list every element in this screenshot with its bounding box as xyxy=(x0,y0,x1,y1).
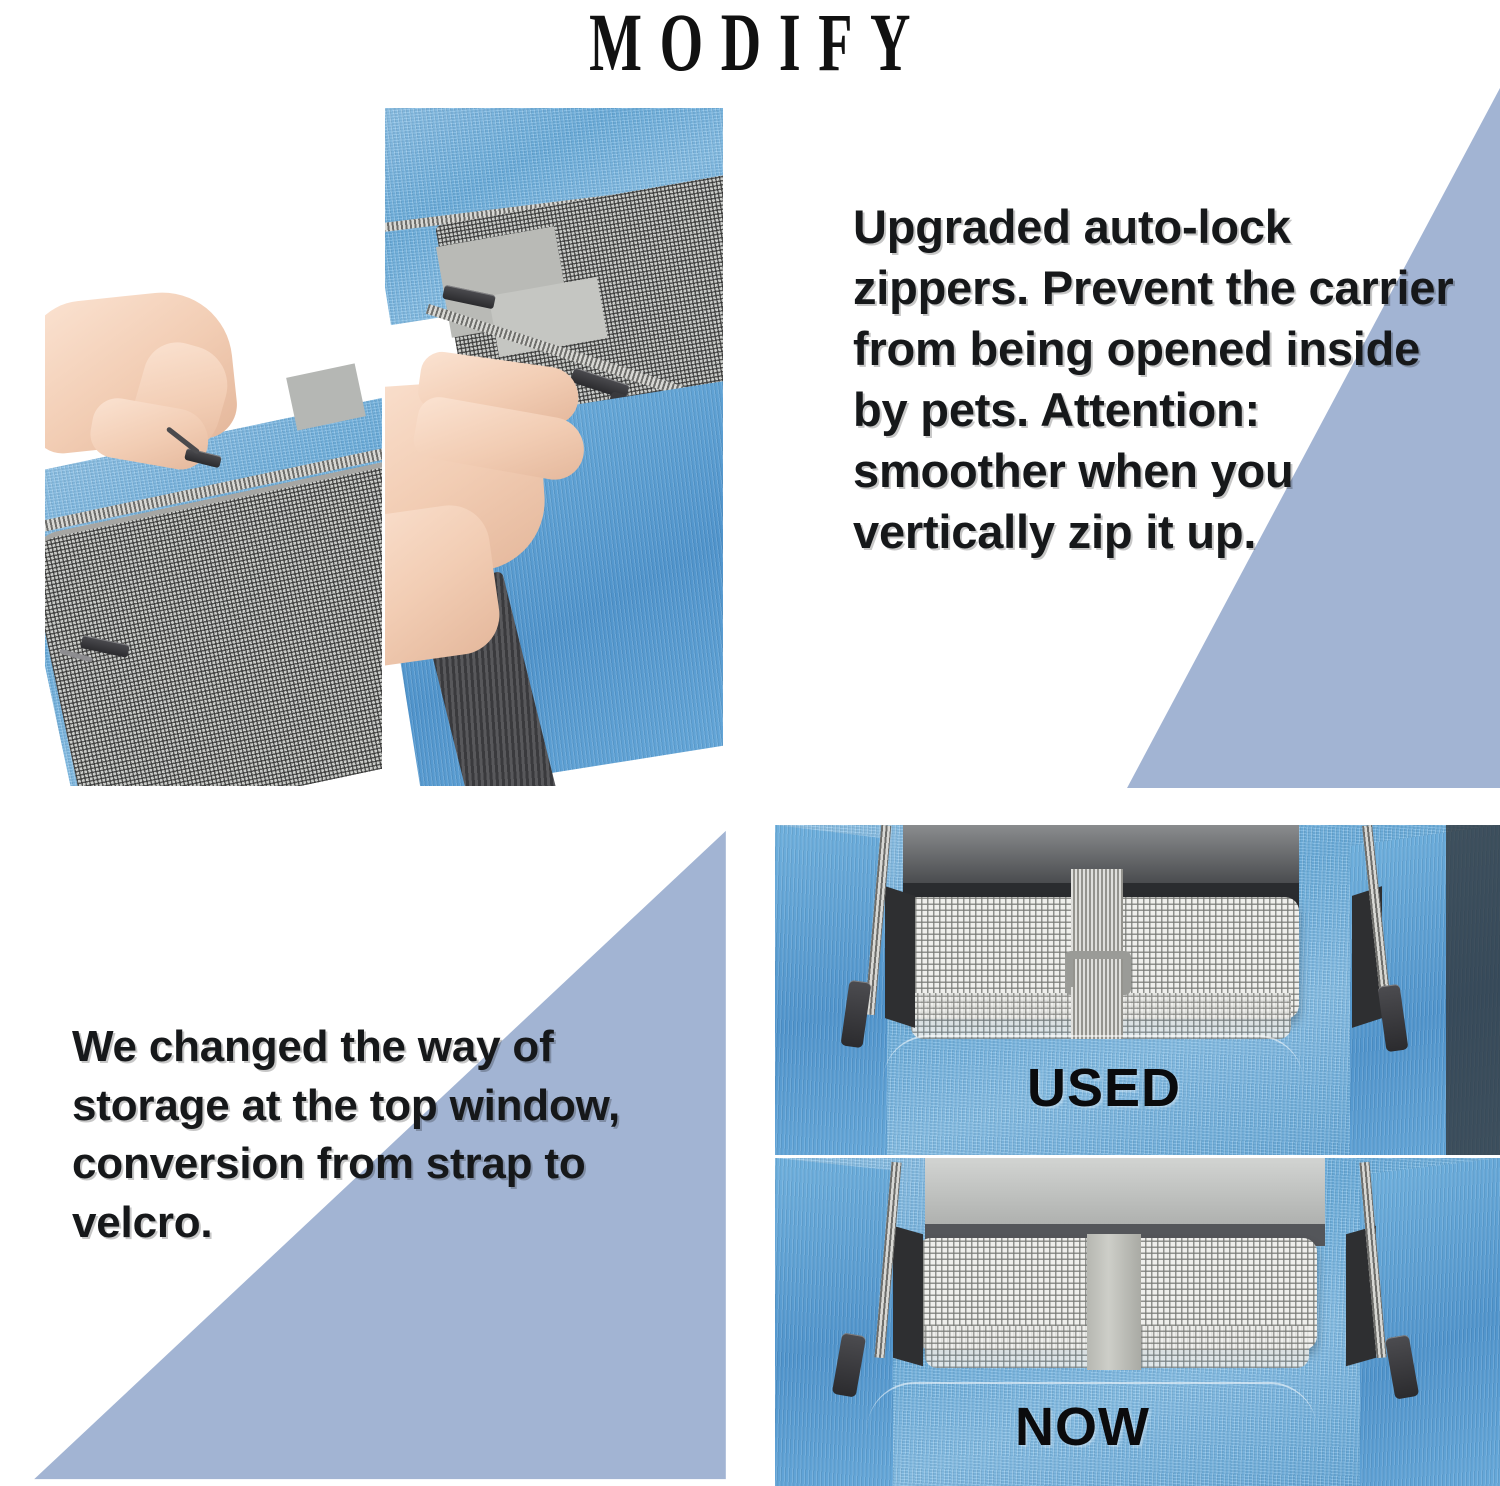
photo-two-finger-zip xyxy=(385,108,723,786)
velcro-strap-now xyxy=(1087,1234,1141,1370)
retaining-strap-tail-used xyxy=(1071,987,1123,1039)
photo-hand-pulling-zipper xyxy=(45,108,382,786)
auto-lock-zipper-panel: Upgraded auto-lock zippers. Prevent the … xyxy=(723,88,1500,788)
background-shadow-used xyxy=(1446,825,1500,1155)
storage-change-panel: We changed the way of storage at the top… xyxy=(0,800,760,1486)
label-now: NOW xyxy=(1015,1396,1150,1458)
used-vs-now-comparison: USED NOW xyxy=(775,825,1500,1486)
storage-change-copy: We changed the way of storage at the top… xyxy=(72,1018,712,1252)
photo-now: NOW xyxy=(775,1158,1500,1486)
trim-left-used xyxy=(885,886,915,1028)
page-header: MODIFY xyxy=(0,0,1500,88)
zipper-photo-collage xyxy=(45,108,723,786)
trim-left-now xyxy=(893,1226,923,1367)
photo-used: USED xyxy=(775,825,1500,1155)
label-used: USED xyxy=(1027,1057,1181,1119)
page-title: MODIFY xyxy=(572,3,929,86)
auto-lock-zipper-copy: Upgraded auto-lock zippers. Prevent the … xyxy=(853,196,1473,563)
